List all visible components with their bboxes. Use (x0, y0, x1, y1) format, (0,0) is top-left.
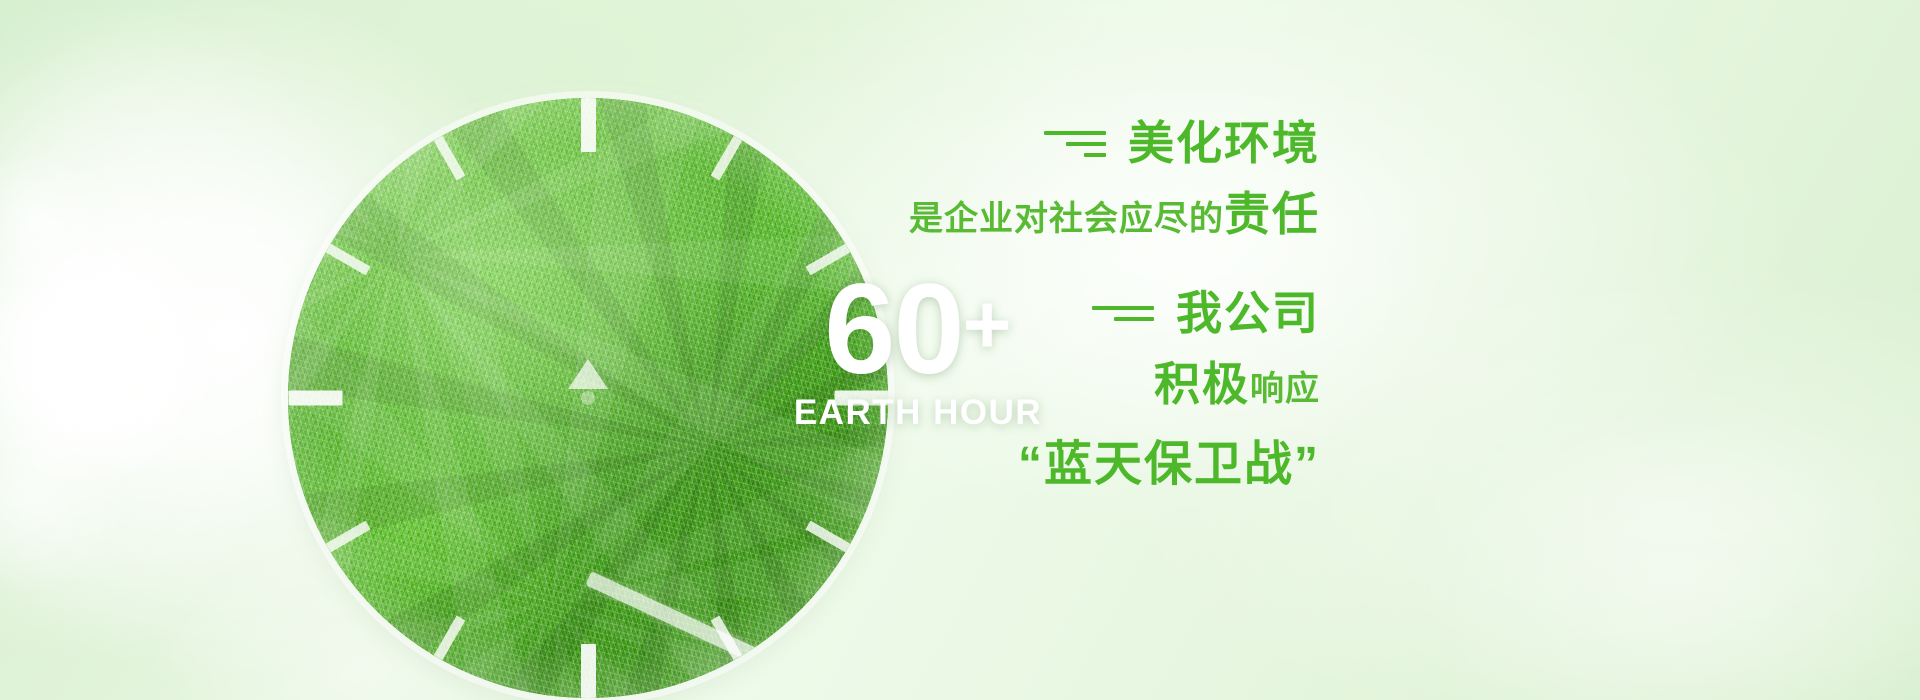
slogan-headline-1: 美化环境 (1128, 120, 1320, 168)
bokeh-highlight-left-small (0, 150, 120, 300)
slogan-subline-1-large: 责任 (1224, 188, 1320, 240)
earth-hour-banner: 60+ EARTH HOUR 美化环境 是企业对社会应尽的责任 (0, 0, 1920, 700)
deco-line (1084, 153, 1106, 157)
decorative-lines-icon (1044, 131, 1106, 157)
slogan-subline-1: 是企业对社会应尽的责任 (900, 178, 1320, 244)
slogan-subline-1-small: 是企业对社会应尽的 (909, 200, 1224, 238)
slogan-copy: 美化环境 是企业对社会应尽的责任 我公司 积极响应 “蓝天保卫战” (900, 120, 1320, 494)
slogan-subline-2-small: 响应 (1250, 370, 1320, 408)
bokeh-highlight-left-large (0, 230, 240, 480)
slogan-block-2: 我公司 积极响应 “蓝天保卫战” (900, 290, 1320, 494)
earth-hour-clock: 60+ EARTH HOUR (288, 98, 888, 698)
slogan-quote: “蓝天保卫战” (900, 424, 1320, 494)
slogan-block-1: 美化环境 是企业对社会应尽的责任 (900, 120, 1320, 244)
slogan-headline-row-1: 美化环境 (900, 120, 1320, 168)
slogan-subline-2: 积极响应 (900, 348, 1320, 414)
deco-line (1114, 317, 1154, 321)
slogan-subline-2-large: 积极 (1154, 358, 1250, 410)
deco-line (1044, 131, 1106, 135)
decorative-lines-icon (1092, 306, 1154, 321)
bokeh-highlight-bottom-right (1420, 400, 1920, 700)
slogan-headline-2: 我公司 (1176, 290, 1320, 338)
deco-line (1092, 306, 1154, 310)
bokeh-highlight-left-lower (0, 400, 130, 590)
deco-line (1066, 142, 1106, 146)
slogan-headline-row-2: 我公司 (900, 290, 1320, 338)
